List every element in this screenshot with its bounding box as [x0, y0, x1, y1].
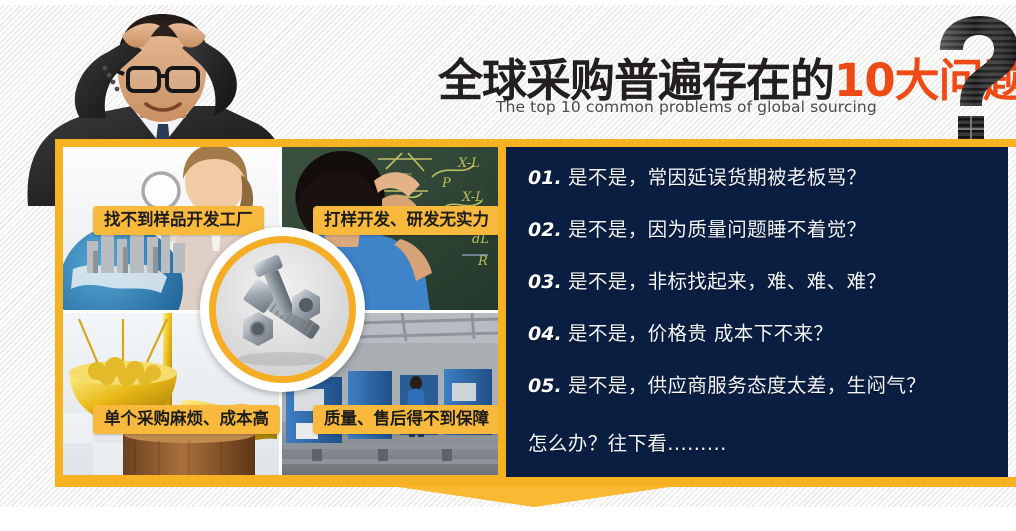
list-item-text: 是不是，供应商服务态度太差，生闷气？ [568, 369, 926, 398]
list-item-number: 03. [528, 271, 568, 293]
list-item-text: 是不是，因为质量问题睡不着觉？ [568, 213, 867, 242]
fasteners-icon [216, 243, 349, 376]
list-item-number: 01. [528, 167, 568, 189]
problems-panel: 01. 是不是，常因延误货期被老板骂？ 02. 是不是，因为质量问题睡不着觉？ … [506, 147, 1008, 477]
caption-chip-bottom-right: 质量、售后得不到保障 [313, 405, 498, 434]
svg-text:P: P [441, 176, 451, 191]
svg-text:R: R [477, 254, 488, 269]
title-block: 全球采购普遍存在的10大问题 The top 10 common problem… [430, 44, 1016, 144]
list-item: 01. 是不是，常因延误货期被老板骂？ [528, 161, 998, 213]
bottom-orange-rail [55, 477, 1016, 487]
badge-orange-ring [209, 236, 356, 383]
center-product-badge[interactable] [200, 227, 365, 392]
banner-root: 全球采购普遍存在的10大问题 The top 10 common problem… [0, 0, 1016, 531]
caption-chip-bottom-left: 单个采购麻烦、成本高 [93, 405, 280, 434]
list-item: 05. 是不是，供应商服务态度太差，生闷气？ [528, 369, 998, 421]
list-item-text: 是不是，非标找起来，难、难、难？ [568, 265, 886, 294]
collage-grid: X-LX-L RdLR FP [63, 147, 498, 475]
title-subtitle: The top 10 common problems of global sou… [496, 98, 877, 116]
list-item-number: 02. [528, 219, 568, 241]
question-mark-icon [930, 16, 1016, 146]
svg-text:X-L: X-L [461, 190, 484, 205]
list-item-text: 是不是，常因延误货期被老板骂？ [568, 161, 867, 190]
svg-text:X-L: X-L [457, 156, 480, 171]
problems-footer-text: 怎么办？往下看......... [528, 421, 998, 456]
list-item: 03. 是不是，非标找起来，难、难、难？ [528, 265, 998, 317]
list-item-text: 是不是，价格贵 成本下不来？ [568, 317, 833, 346]
caption-chip-top-right: 打样开发、研发无实力 [313, 206, 498, 235]
top-white-strip [0, 0, 1016, 5]
list-item: 04. 是不是，价格贵 成本下不来？ [528, 317, 998, 369]
problems-list: 01. 是不是，常因延误货期被老板骂？ 02. 是不是，因为质量问题睡不着觉？ … [528, 161, 998, 456]
caption-chip-top-left: 找不到样品开发工厂 [93, 206, 264, 235]
list-item-number: 04. [528, 323, 568, 345]
collage-card: X-LX-L RdLR FP [55, 139, 506, 483]
scroll-down-arrow-icon [398, 487, 670, 507]
list-item: 02. 是不是，因为质量问题睡不着觉？ [528, 213, 998, 265]
bottom-white-strip [0, 507, 1016, 531]
list-item-number: 05. [528, 375, 568, 397]
